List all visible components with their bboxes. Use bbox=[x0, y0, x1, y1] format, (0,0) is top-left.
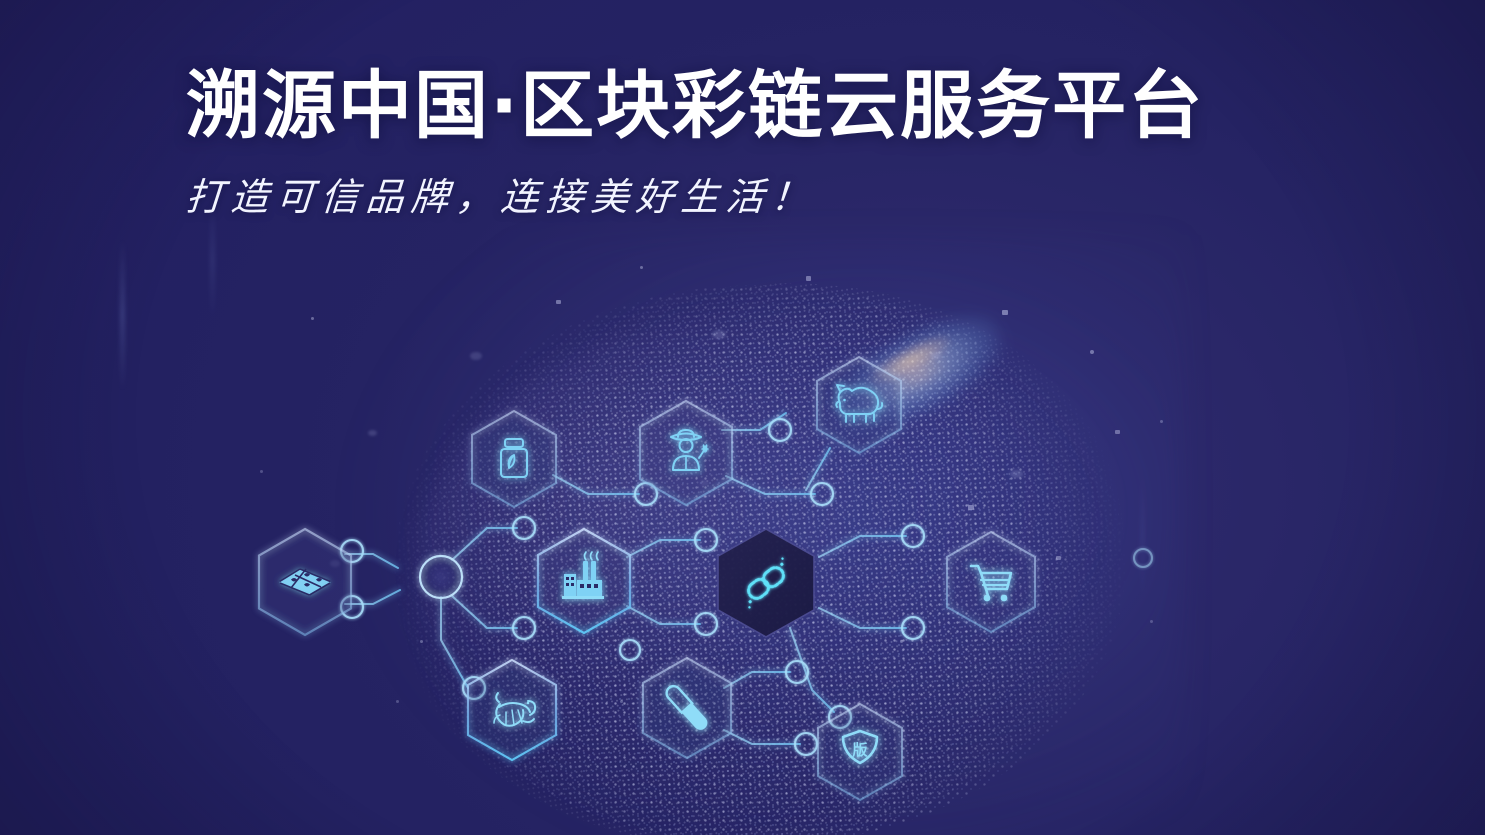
page-title: 溯源中国·区块彩链云服务平台 bbox=[186, 46, 1204, 153]
page-subtitle: 打造可信品牌，连接美好生活！ bbox=[184, 166, 818, 221]
hero-banner: 版 溯源中国·区块彩链云服务平台 打造可信品牌，连接美好生活！ bbox=[0, 0, 1485, 835]
